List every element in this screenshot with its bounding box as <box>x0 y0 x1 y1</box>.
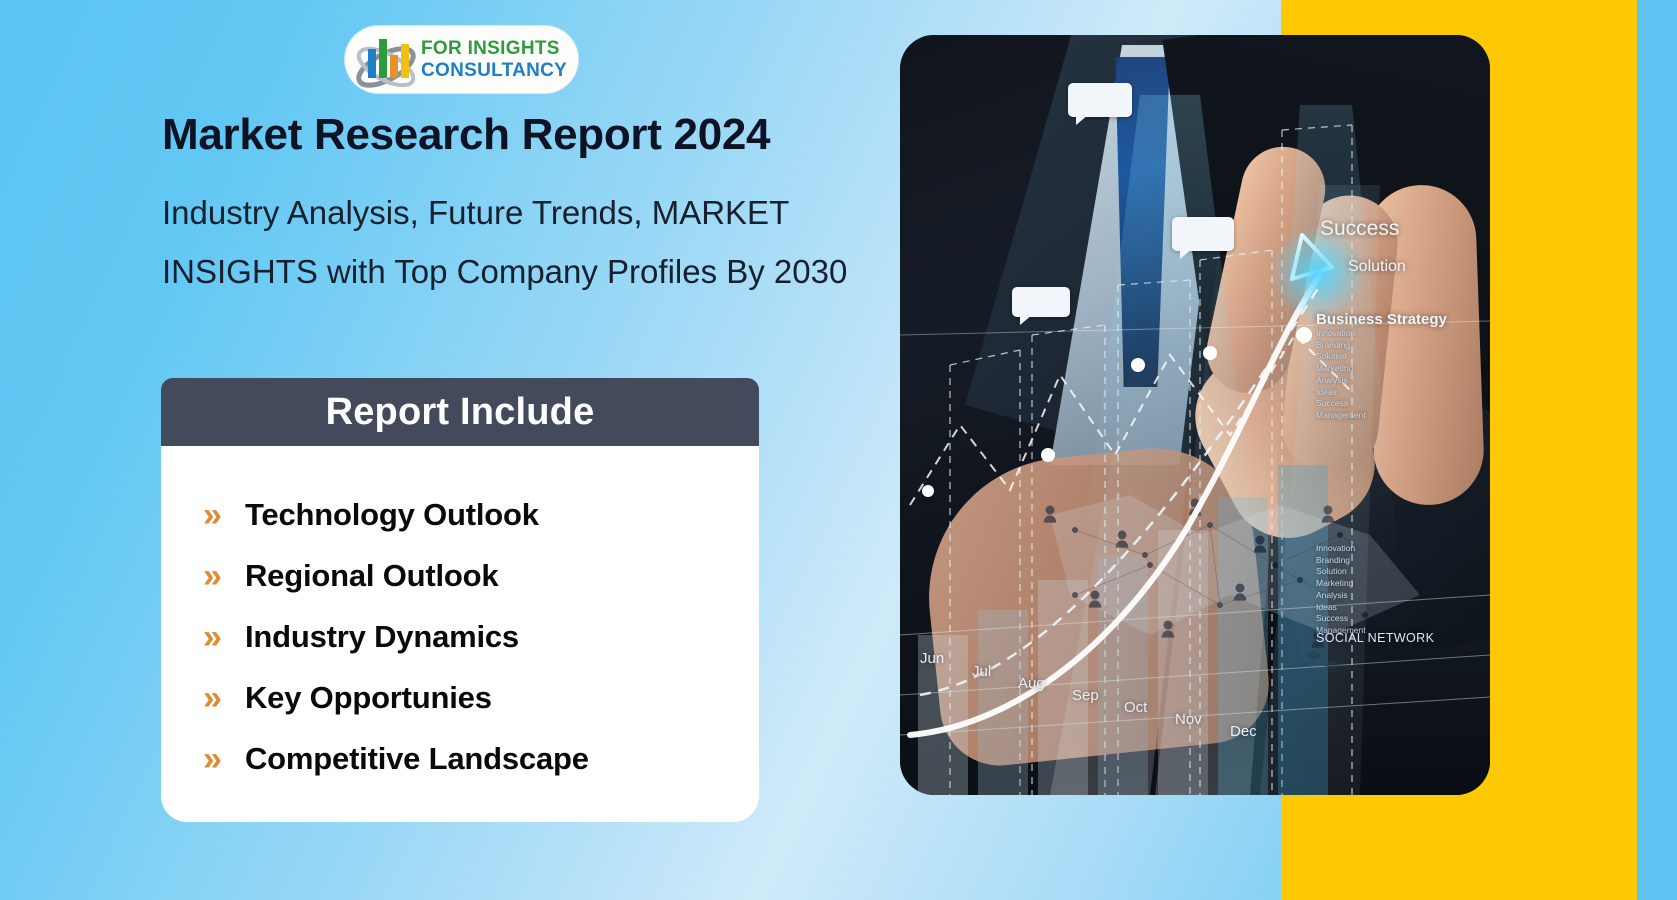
list-item-label: Regional Outlook <box>245 558 498 594</box>
double-chevron-right-icon: » <box>203 620 241 654</box>
bar-chart-globe-icon <box>351 31 421 89</box>
page-subtitle: Industry Analysis, Future Trends, MARKET… <box>162 184 922 301</box>
hero-photo: Success Solution Business Strategy Innov… <box>900 35 1490 795</box>
list-item[interactable]: » Regional Outlook <box>203 545 759 606</box>
double-chevron-right-icon: » <box>203 498 241 532</box>
logo-line-2: CONSULTANCY <box>421 61 567 80</box>
list-item-label: Industry Dynamics <box>245 619 519 655</box>
double-chevron-right-icon: » <box>203 559 241 593</box>
list-item[interactable]: » Key Opportunies <box>203 667 759 728</box>
speech-bubble <box>1068 83 1132 117</box>
month-label: Sep <box>1072 687 1099 704</box>
month-label: Dec <box>1230 723 1257 740</box>
report-include-header: Report Include <box>161 378 759 446</box>
speech-bubble <box>1012 287 1070 317</box>
list-item-label: Key Opportunies <box>245 680 492 716</box>
keyword-list-secondary: Innovation Branding Solution Marketing A… <box>1316 543 1366 637</box>
logo-line-1: FOR INSIGHTS <box>421 39 567 58</box>
brand-logo: FOR INSIGHTS CONSULTANCY <box>345 26 578 93</box>
label-business-strategy: Business Strategy <box>1316 311 1447 328</box>
label-social-network: SOCIAL NETWORK <box>1316 631 1434 645</box>
page-title: Market Research Report 2024 <box>162 112 922 158</box>
blue-edge-strip <box>1637 0 1677 900</box>
marketing-banner: FOR INSIGHTS CONSULTANCY Market Research… <box>0 0 1677 900</box>
photo-composite: Success Solution Business Strategy Innov… <box>900 35 1490 795</box>
label-success: Success <box>1320 217 1399 241</box>
keyword-list: Innovation Branding Solution Marketing A… <box>1316 328 1366 422</box>
report-include-title: Report Include <box>326 391 595 434</box>
month-label: Jun <box>920 650 944 667</box>
data-graphics-overlay <box>900 35 1490 795</box>
month-label: Nov <box>1175 711 1202 728</box>
month-label: Aug <box>1018 675 1045 692</box>
month-label: Jul <box>972 663 991 680</box>
report-include-card: » Technology Outlook » Regional Outlook … <box>161 446 759 822</box>
double-chevron-right-icon: » <box>203 681 241 715</box>
list-item[interactable]: » Industry Dynamics <box>203 606 759 667</box>
list-item[interactable]: » Competitive Landscape <box>203 728 759 789</box>
month-label: Oct <box>1124 699 1147 716</box>
double-chevron-right-icon: » <box>203 742 241 776</box>
label-solution: Solution <box>1348 258 1406 276</box>
list-item-label: Competitive Landscape <box>245 741 589 777</box>
list-item-label: Technology Outlook <box>245 497 539 533</box>
speech-bubble <box>1172 217 1234 251</box>
list-item[interactable]: » Technology Outlook <box>203 484 759 545</box>
